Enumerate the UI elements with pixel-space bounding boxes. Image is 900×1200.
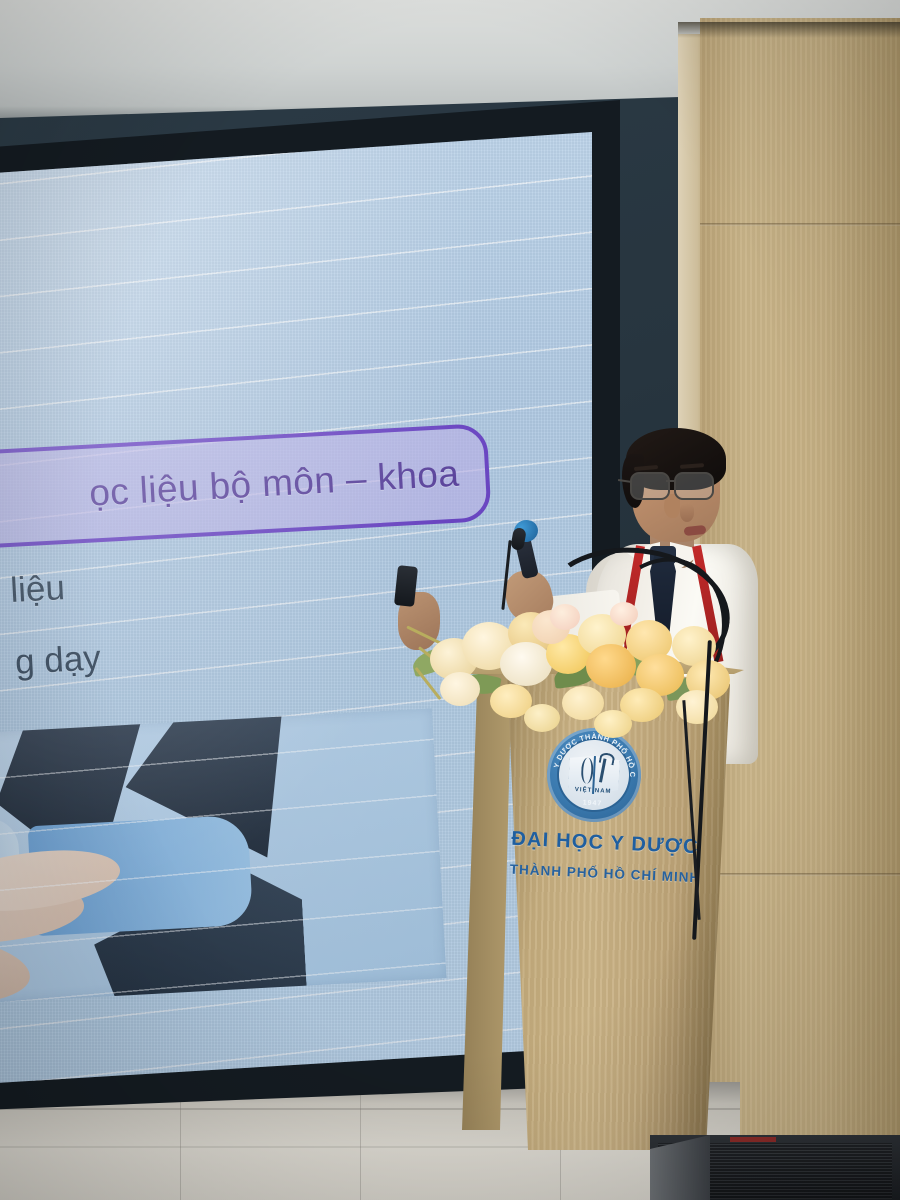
podium-flower-arrangement [404, 586, 748, 736]
nose [680, 504, 694, 522]
mouth [684, 525, 707, 536]
seal-rim-text: ĐẠI HỌC Y DƯỢC THÀNH PHỐ HỒ CHÍ MINH [545, 726, 644, 825]
wood-panel-seam [700, 223, 900, 226]
wood-panel-seam [700, 873, 900, 876]
eyeglasses-icon [624, 472, 728, 498]
ceiling-corner-shadow [678, 22, 900, 38]
presentation-photo-scene: ọc liệu bộ môn – khoa liệu g dạy [0, 0, 900, 1200]
university-seal-logo: VIỆT NAM 1947 ĐẠI HỌC Y DƯỢC THÀNH PHỐ H… [545, 726, 644, 825]
speaker-accent-strip [730, 1137, 776, 1142]
stage-floor-monitor-speaker [650, 1135, 900, 1200]
